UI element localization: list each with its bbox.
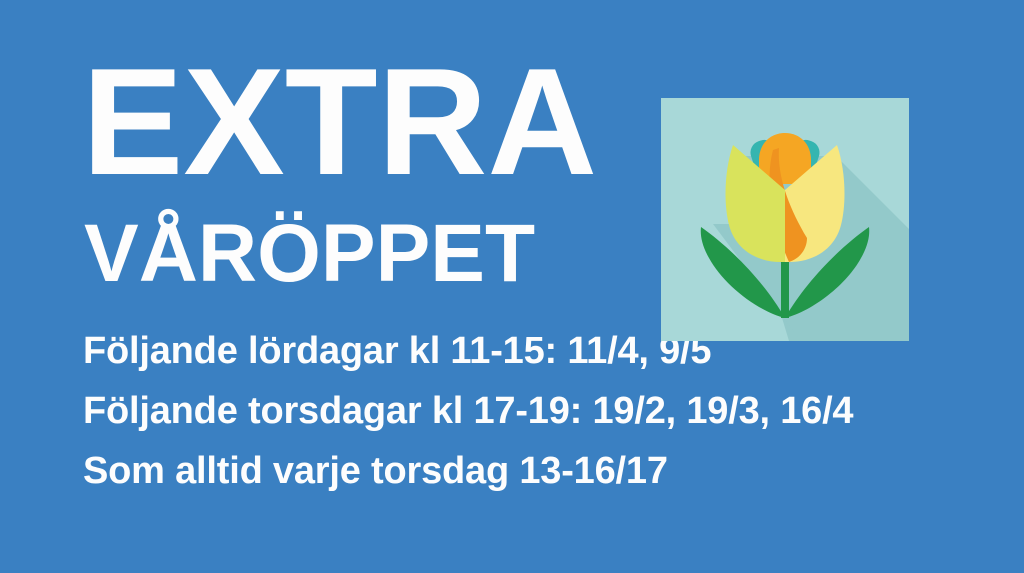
poster-detail-line-2: Följande torsdagar kl 17-19: 19/2, 19/3,…	[83, 381, 962, 441]
poster-detail-list: Följande lördagar kl 11-15: 11/4, 9/5 Fö…	[83, 321, 962, 501]
tulip-icon	[661, 98, 909, 341]
poster-detail-line-3: Som alltid varje torsdag 13-16/17	[83, 441, 962, 501]
poster-canvas: EXTRA VÅRÖPPET Följande lördagar kl 11-1…	[0, 0, 1024, 573]
tulip-icon-tile	[661, 98, 909, 341]
